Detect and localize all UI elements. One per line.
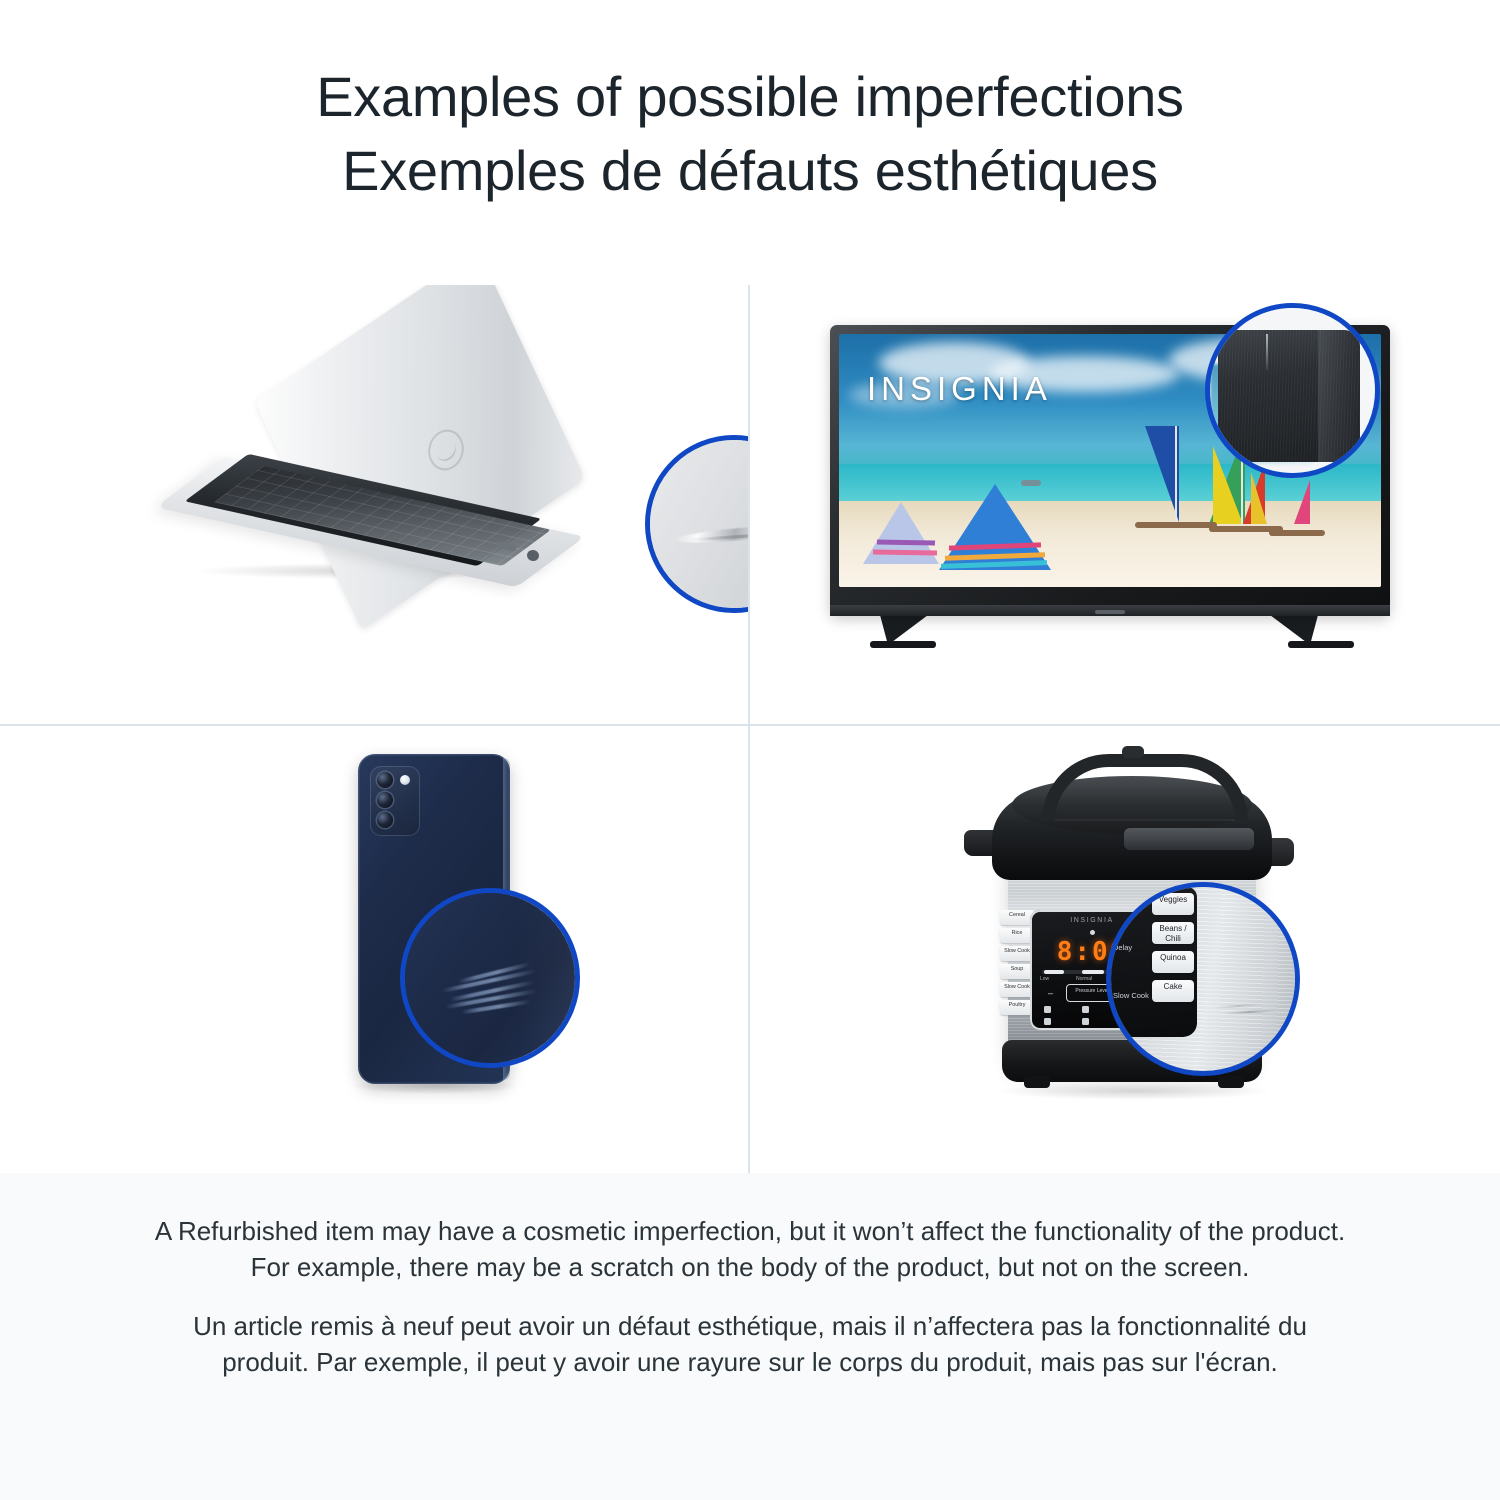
examples-grid: INSIGNIA [0, 285, 1500, 1173]
phone-flash-icon [400, 775, 410, 785]
cooker-panel-key[interactable] [1044, 1006, 1051, 1013]
smartphone-illustration [310, 748, 550, 1148]
footer-disclaimer: A Refurbished item may have a cosmetic i… [0, 1173, 1500, 1500]
tv-scene-sail [1141, 426, 1179, 522]
panel-smartphone [0, 726, 748, 1173]
page-title: Examples of possible imperfections Exemp… [0, 60, 1500, 208]
cooker-button[interactable]: Slow Cook [1000, 982, 1034, 997]
tv-magnified-texture [1218, 330, 1360, 462]
cooker-panel-key[interactable] [1082, 1006, 1089, 1013]
cooker-foot [1024, 1076, 1050, 1088]
magnifier-circle-phone-back-scratches [400, 888, 580, 1068]
cooker-status-indicator-icon [1090, 930, 1095, 935]
phone-camera-lens-icon [377, 772, 393, 788]
cooker-button[interactable]: Soup [1000, 964, 1034, 979]
panel-pressure-cooker: Cereal Rice Slow Cook Soup Slow Cook Pou… [750, 726, 1500, 1173]
cooker-pressure-valve-icon [1122, 746, 1144, 758]
cooker-magnified-button-quinoa[interactable]: Quinoa [1152, 951, 1194, 973]
pressure-cooker-illustration: Cereal Rice Slow Cook Soup Slow Cook Pou… [950, 740, 1330, 1160]
cooker-lid-vent-plate [1124, 828, 1254, 850]
cooker-magnified-button-cake[interactable]: Cake [1152, 980, 1194, 1002]
cooker-magnified-label-slow-cook: Slow Cook [1113, 991, 1149, 1000]
tv-power-indicator-icon [1095, 610, 1125, 614]
tv-scene-sail [1251, 472, 1270, 524]
tv-scratch-mark [1266, 334, 1268, 370]
panel-laptop [0, 285, 748, 724]
tv-scene-sail [1291, 480, 1310, 524]
tv-scene-hull [1135, 522, 1217, 528]
laptop-illustration [175, 305, 595, 705]
cooker-magnified-button-strip: Veggies Beans / Chili Quinoa Cake [1151, 893, 1195, 1037]
cooker-magnified-button-beans-chili[interactable]: Beans / Chili [1152, 922, 1194, 944]
tv-foot-left [870, 641, 936, 648]
magnifier-circle-laptop-lid-scratch [645, 435, 748, 613]
cooker-panel-key[interactable] [1044, 1018, 1051, 1025]
magnifier-circle-tv-bezel-scratch [1205, 303, 1380, 478]
cooker-level-label: Normal [1076, 976, 1092, 982]
cooker-button[interactable]: Slow Cook [1000, 946, 1034, 961]
phone-camera-module [370, 766, 420, 836]
disclaimer-english: A Refurbished item may have a cosmetic i… [148, 1213, 1352, 1286]
laptop-magnified-surface [650, 440, 748, 608]
cooker-foot [1218, 1076, 1244, 1088]
phone-camera-lens-icon [377, 792, 393, 808]
cooker-button[interactable]: Cereal [1000, 910, 1034, 925]
page-title-french: Exemples de défauts esthétiques [0, 134, 1500, 208]
tv-screen-brand-text: INSIGNIA [867, 370, 1052, 408]
disclaimer-french: Un article remis à neuf peut avoir un dé… [148, 1308, 1352, 1381]
cooker-magnified-label-delay: Delay [1113, 943, 1132, 952]
phone-camera-lens-icon [377, 812, 393, 828]
cooker-minus-button[interactable]: – [1048, 988, 1053, 998]
television-illustration: INSIGNIA [810, 303, 1430, 703]
cooker-button[interactable]: Poultry [1000, 1000, 1034, 1015]
cooker-magnified-button-veggies[interactable]: Veggies [1152, 893, 1194, 915]
magnifier-circle-cooker-body-scratch: Delay Slow Cook Veggies Beans / Chili Qu… [1106, 882, 1300, 1076]
cooker-panel-key[interactable] [1082, 1018, 1089, 1025]
cooker-lid-handle [1042, 754, 1248, 821]
panel-television: INSIGNIA [750, 285, 1500, 724]
tv-scene-kite-stripe [877, 539, 935, 545]
tv-foot-right [1288, 641, 1354, 648]
cooker-button[interactable]: Rice [1000, 928, 1034, 943]
tv-scene-hull [1269, 530, 1325, 536]
tv-scene-mast [1175, 426, 1177, 524]
cooker-level-label: Low [1040, 976, 1049, 982]
page-title-english: Examples of possible imperfections [0, 60, 1500, 134]
tv-bottom-bezel [830, 605, 1390, 616]
